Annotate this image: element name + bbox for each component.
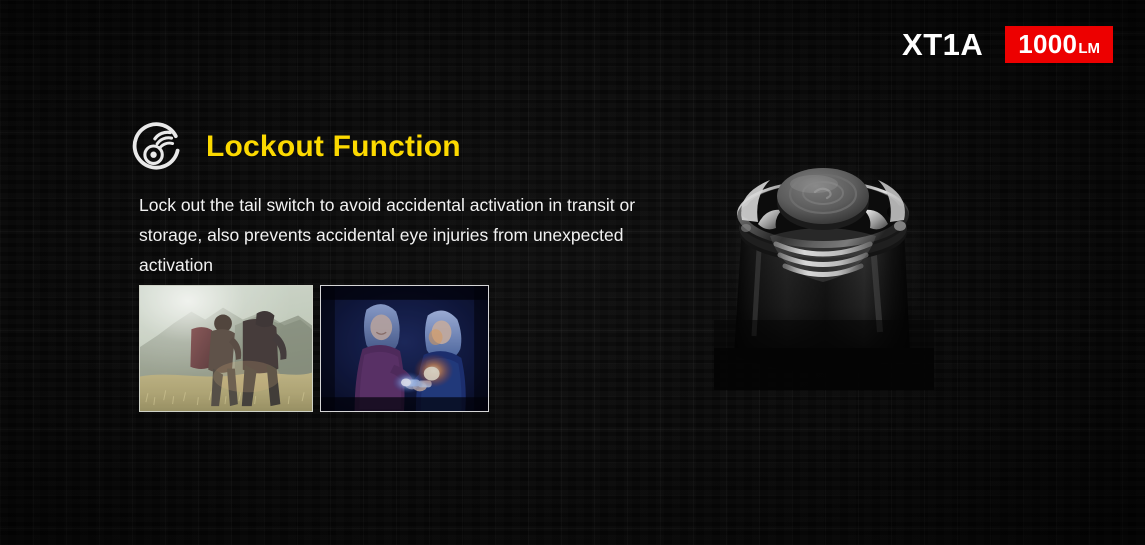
thumbnail-children-night[interactable]: [320, 285, 489, 412]
feature-title: Lockout Function: [206, 130, 461, 164]
header: XT1A 1000 LM: [902, 26, 1113, 63]
product-feature-slide: XT1A 1000 LM Lockout Function Lock out t…: [0, 0, 1145, 545]
thumbnail-gallery: [139, 285, 489, 412]
flashlight-tail-cap-photo: [714, 140, 934, 390]
feature-heading-row: Lockout Function: [130, 116, 710, 178]
thumbnail-hikers[interactable]: [139, 285, 313, 412]
lumen-output-badge: 1000 LM: [1005, 26, 1113, 63]
lumen-unit-label: LM: [1078, 41, 1100, 56]
feature-description: Lock out the tail switch to avoid accide…: [139, 190, 687, 280]
lockout-switch-icon: [130, 118, 188, 176]
product-image: [714, 140, 934, 390]
product-model-label: XT1A: [902, 29, 983, 60]
hikers-on-mountain-trail-photo: [140, 286, 312, 411]
children-with-flashlights-at-night-photo: [321, 286, 488, 411]
lumen-value: 1000: [1018, 31, 1077, 57]
feature-block: Lockout Function Lock out the tail switc…: [130, 116, 710, 280]
